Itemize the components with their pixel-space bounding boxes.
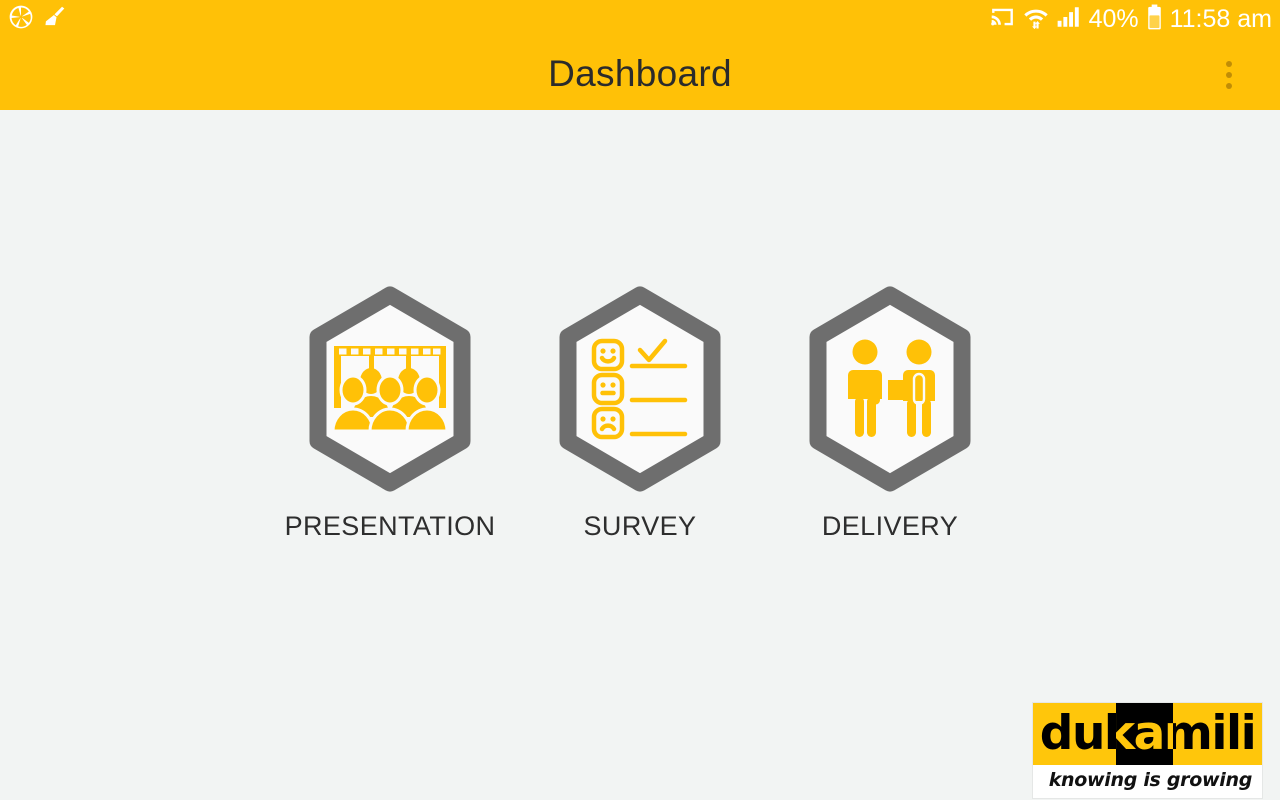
- overflow-menu-icon[interactable]: [1216, 56, 1242, 94]
- wifi-transfer-icon: [1023, 5, 1049, 34]
- cellular-signal-icon: [1056, 5, 1082, 34]
- camera-aperture-icon: [8, 4, 34, 35]
- dukamili-logo: dukamili dukamili knowing is growing: [1033, 703, 1262, 798]
- tile-survey[interactable]: SURVEY: [547, 285, 733, 542]
- tile-hex-frame: [297, 285, 483, 493]
- page-title: Dashboard: [0, 38, 1280, 110]
- dashboard-tile-grid: PRESENTATION: [0, 285, 1280, 542]
- battery-percent-label: 40%: [1089, 0, 1139, 38]
- presentation-audience-icon: [297, 285, 483, 493]
- battery-icon: [1146, 4, 1163, 35]
- overflow-dot: [1226, 61, 1232, 67]
- tile-presentation[interactable]: PRESENTATION: [297, 285, 483, 542]
- logo-wordmark: dukamili dukamili: [1033, 703, 1262, 765]
- overflow-dot: [1226, 72, 1232, 78]
- app-bar: Dashboard: [0, 38, 1280, 110]
- tile-delivery[interactable]: DELIVERY: [797, 285, 983, 542]
- survey-feedback-faces-icon: [547, 285, 733, 493]
- tile-label-delivery: DELIVERY: [822, 511, 958, 542]
- logo-word-highlight-clip: dukamili: [1116, 703, 1173, 765]
- logo-tagline: knowing is growing: [1033, 765, 1262, 798]
- tile-hex-frame: [797, 285, 983, 493]
- logo-word-yellow: dukamili: [1116, 703, 1173, 765]
- status-bar-right-group: 40% 11:58 am: [989, 0, 1272, 38]
- tile-label-survey: SURVEY: [584, 511, 697, 542]
- tile-hex-frame: [547, 285, 733, 493]
- broom-cleaner-icon: [42, 4, 68, 35]
- tile-label-presentation: PRESENTATION: [285, 511, 496, 542]
- overflow-dot: [1226, 83, 1232, 89]
- delivery-handoff-icon: [797, 285, 983, 493]
- dashboard-content: PRESENTATION: [0, 110, 1280, 800]
- dashboard-screen: 40% 11:58 am Dashboard: [0, 0, 1280, 800]
- cast-screen-icon: [989, 5, 1016, 34]
- status-bar-left-icons: [8, 0, 68, 38]
- clock-label: 11:58 am: [1170, 0, 1272, 38]
- status-bar: 40% 11:58 am: [0, 0, 1280, 38]
